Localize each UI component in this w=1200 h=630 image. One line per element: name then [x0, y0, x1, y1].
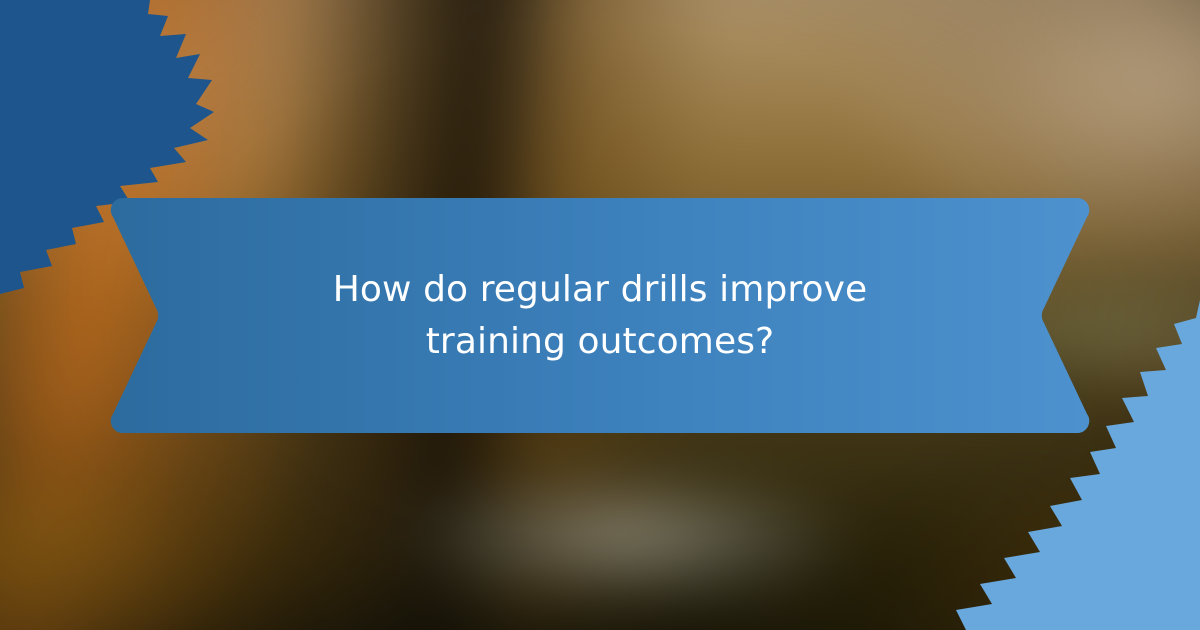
ribbon-banner: How do regular drills improve training o…: [110, 198, 1090, 433]
banner-headline: How do regular drills improve training o…: [110, 263, 1090, 367]
banner-canvas: How do regular drills improve training o…: [0, 0, 1200, 630]
